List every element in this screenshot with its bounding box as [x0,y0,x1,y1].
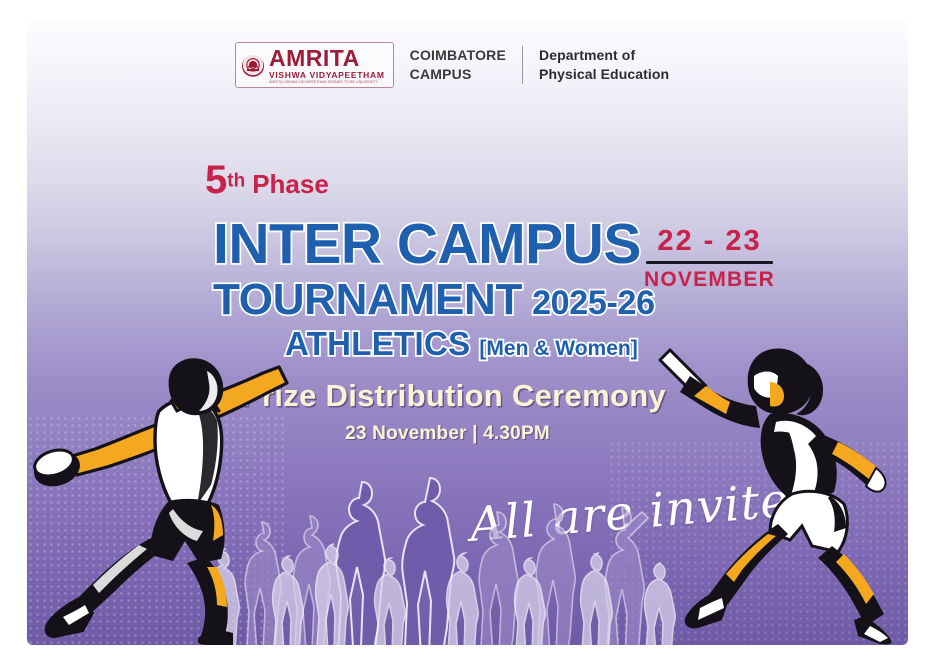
campus-line-1: COIMBATORE [410,46,506,65]
event-sport-category: [Men & Women] [479,337,637,360]
department-name: Department of Physical Education [539,46,669,84]
amrita-seal-icon [242,55,264,77]
poster-header: AMRITA VISHWA VIDYAPEETHAM AMRITA VISHWA… [235,42,669,88]
relay-runner-body [660,348,892,644]
discus-thrower-illustration [27,345,321,645]
amrita-logo: AMRITA VISHWA VIDYAPEETHAM AMRITA VISHWA… [235,42,394,88]
poster-frame: AMRITA VISHWA VIDYAPEETHAM AMRITA VISHWA… [0,0,941,665]
event-poster: AMRITA VISHWA VIDYAPEETHAM AMRITA VISHWA… [27,20,908,645]
female-relay-runner-illustration [652,342,908,645]
campus-name: COIMBATORE CAMPUS [410,46,506,84]
phase-superscript: th [227,171,245,192]
event-title-years: 2025-26 [532,284,655,322]
event-title-third-line: ATHLETICS[Men & Women] [285,327,638,360]
logo-wordmark: AMRITA VISHWA VIDYAPEETHAM AMRITA VISHWA… [269,47,385,84]
event-date-range: 22 - 23 [644,226,775,256]
event-date-month: NOVEMBER [644,268,775,291]
logo-name: AMRITA [269,47,385,70]
phase-word: Phase [252,169,329,199]
event-date-badge: 22 - 23 NOVEMBER [644,226,775,292]
event-title-main: INTER CAMPUS [213,216,641,273]
header-divider [522,46,523,84]
event-title-tournament: TOURNAMENT [213,275,522,324]
phase-number: 5 [205,158,227,202]
logo-subtitle: VISHWA VIDYAPEETHAM [269,71,385,80]
department-line-1: Department of [539,46,669,65]
department-line-2: Physical Education [539,65,669,84]
logo-tagline: AMRITA VISHWA VIDYAPEETHAM DEEMED TO BE … [269,81,385,84]
event-title-second-line: TOURNAMENT2025-26 [213,278,655,322]
phase-heading: 5thPhase [205,160,329,200]
campus-line-2: CAMPUS [410,65,506,84]
discus-thrower-body [31,358,287,645]
date-divider-rule [646,261,773,264]
